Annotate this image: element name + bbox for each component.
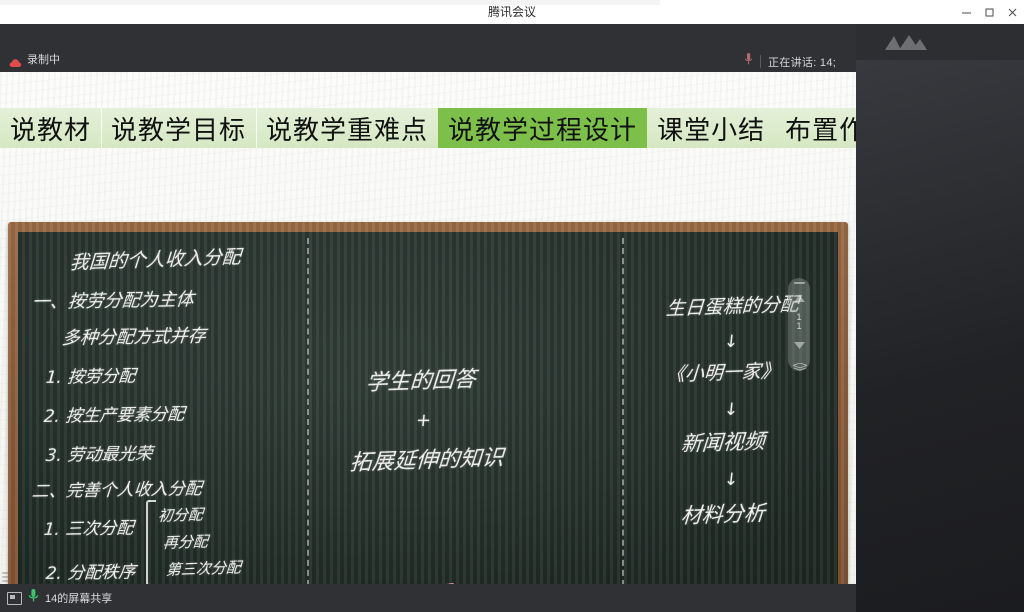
chalk-line-left-column-8: 初分配 xyxy=(157,503,203,526)
speaking-divider xyxy=(760,55,761,68)
recording-indicator: 录制中 xyxy=(9,51,60,67)
chalk-line-right-column-0: 生日蛋糕的分配 xyxy=(665,289,800,321)
speaking-indicator: 正在讲话: 14; xyxy=(744,52,836,71)
chalk-line-right-column-6: 材料分析 xyxy=(680,497,766,530)
chalk-line-left-column-3: 1. 按劳分配 xyxy=(45,361,137,388)
chalk-line-left-column-6: 二、完善个人收入分配 xyxy=(31,474,203,502)
recording-label: 录制中 xyxy=(27,51,60,67)
cloud-recording-icon xyxy=(9,55,21,64)
participants-panel: 14 xyxy=(856,24,1024,612)
shared-screen-content: 说教材 说教学目标 说教学重难点 说教学过程设计 课堂小结 布置作业 我国的个人… xyxy=(0,72,856,584)
page-scroll-widget[interactable]: 1 1 xyxy=(788,278,810,371)
chalk-line-right-column-2: 《小明一家》 xyxy=(665,356,781,387)
meeting-topbar: 录制中 正在讲话: 14; xyxy=(0,24,856,72)
chalk-line-right-column-3: ↓ xyxy=(723,400,739,420)
tab-bu-zhi-zuo-ye[interactable]: 布置作业 xyxy=(775,108,856,148)
triangle-up-icon[interactable] xyxy=(794,289,805,307)
chalk-line-middle-column-2: 拓展延伸的知识 xyxy=(349,440,505,477)
chalk-line-left-column-11: 2. 分配秩序 xyxy=(45,557,137,584)
tab-shuo-jiao-xue-zhong-nan-dian[interactable]: 说教学重难点 xyxy=(256,108,438,148)
chalk-line-left-column-10: 第三次分配 xyxy=(165,556,241,580)
chalk-brace xyxy=(146,500,156,584)
tab-shuo-jiao-xue-guo-cheng-she-ji[interactable]: 说教学过程设计 xyxy=(438,108,647,148)
blackboard-frame: 我国的个人收入分配一、按劳分配为主体多种分配方式并存1. 按劳分配2. 按生产要… xyxy=(8,222,848,584)
microphone-icon xyxy=(744,52,753,71)
window-controls xyxy=(955,0,1024,24)
chalk-line-middle-column-1: + xyxy=(415,410,432,431)
chalk-line-left-column-5: 3. 劳动最光荣 xyxy=(45,439,154,466)
lesson-tabs: 说教材 说教学目标 说教学重难点 说教学过程设计 课堂小结 布置作业 xyxy=(0,108,856,148)
tab-shuo-jiao-xue-mu-biao[interactable]: 说教学目标 xyxy=(101,108,256,148)
window-title: 腾讯会议 xyxy=(0,0,1024,24)
board-divider-right xyxy=(622,238,624,584)
chalk-line-left-column-7: 1. 三次分配 xyxy=(43,513,135,540)
tab-ke-tang-xiao-jie[interactable]: 课堂小结 xyxy=(647,108,775,148)
chalk-line-left-column-2: 多种分配方式并存 xyxy=(61,321,207,350)
meeting-body: 录制中 正在讲话: 14; xyxy=(0,24,1024,612)
minimize-icon[interactable] xyxy=(955,0,978,24)
microphone-icon xyxy=(28,588,39,608)
triangle-down-icon[interactable] xyxy=(794,336,805,354)
widget-grip[interactable] xyxy=(794,282,805,284)
chalk-line-left-column-1: 一、按劳分配为主体 xyxy=(31,285,195,314)
chalk-line-left-column-4: 2. 按生产要素分配 xyxy=(43,400,186,427)
maximize-icon[interactable] xyxy=(978,0,1001,24)
chalk-line-right-column-1: ↓ xyxy=(723,332,739,352)
chalk-line-right-column-5: ↓ xyxy=(723,470,739,490)
chalk-line-middle-column-0: 学生的回答 xyxy=(365,361,477,397)
screen-share-statusbar: 14的屏幕共享 xyxy=(0,584,856,612)
window-titlebar: 腾讯会议 xyxy=(0,0,1024,24)
tab-shuo-jiao-cai[interactable]: 说教材 xyxy=(0,108,101,148)
chalk-line-right-column-4: 新闻视频 xyxy=(680,425,766,458)
speaking-label: 正在讲话: 14; xyxy=(768,54,836,70)
screen-share-label: 14的屏幕共享 xyxy=(45,590,112,606)
board-divider-left xyxy=(307,238,309,584)
page-indicator: 1 1 xyxy=(796,313,801,331)
screen-share-icon xyxy=(7,592,22,605)
pages-stack-icon[interactable] xyxy=(793,359,806,367)
tencent-meeting-window: 腾讯会议 录制中 xyxy=(0,0,1024,612)
blackboard: 我国的个人收入分配一、按劳分配为主体多种分配方式并存1. 按劳分配2. 按生产要… xyxy=(18,232,838,584)
chalk-line-left-column-9: 再分配 xyxy=(162,530,208,553)
mountain-logo-icon xyxy=(882,32,928,57)
close-icon[interactable] xyxy=(1001,0,1024,24)
